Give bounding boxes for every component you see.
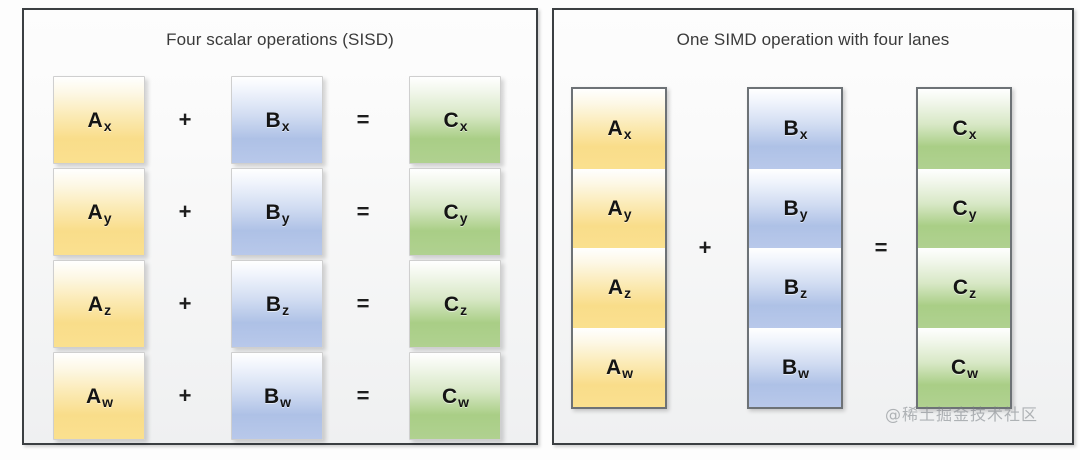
simd-lane-label: Bz xyxy=(784,277,806,298)
equals-operator: = xyxy=(343,352,383,440)
simd-lane: Ax xyxy=(573,89,665,169)
operand-a-label: Ax xyxy=(88,110,111,131)
operand-b-label: Bx xyxy=(266,110,289,131)
equals-operator: = xyxy=(343,168,383,256)
sisd-row: Ax + Bx = Cx xyxy=(24,76,536,164)
operand-a-label: Aw xyxy=(86,386,112,407)
result-c-label: Cz xyxy=(444,294,466,315)
watermark: @稀土掘金技术社区 xyxy=(885,401,1038,425)
simd-vector-b-column: Bx By Bz Bw xyxy=(747,87,843,409)
simd-lane-label: Ay xyxy=(608,198,631,219)
operand-a-box: Aw xyxy=(53,352,145,440)
operand-b-label: Bw xyxy=(264,386,290,407)
simd-lane: Bw xyxy=(749,328,841,408)
simd-lane: Bz xyxy=(749,248,841,328)
simd-lane-label: By xyxy=(784,198,807,219)
simd-lane-label: Aw xyxy=(606,357,632,378)
simd-lane: Cy xyxy=(918,169,1010,249)
simd-lane-label: Az xyxy=(608,277,630,298)
operand-a-label: Ay xyxy=(88,202,111,223)
result-c-box: Cw xyxy=(409,352,501,440)
simd-lane: By xyxy=(749,169,841,249)
plus-operator: + xyxy=(165,168,205,256)
operand-a-box: Ay xyxy=(53,168,145,256)
simd-vector-c-column: Cx Cy Cz Cw xyxy=(916,87,1012,409)
operand-b-box: Bz xyxy=(231,260,323,348)
equals-operator: = xyxy=(861,87,901,409)
simd-lane-label: Cw xyxy=(951,357,977,378)
result-c-box: Cy xyxy=(409,168,501,256)
diagram-canvas: Four scalar operations (SISD) Ax + Bx = … xyxy=(0,0,1080,460)
plus-operator: + xyxy=(165,260,205,348)
plus-operator: + xyxy=(165,76,205,164)
simd-vector-a-column: Ax Ay Az Aw xyxy=(571,87,667,409)
simd-lane-label: Ax xyxy=(608,118,631,139)
panel-sisd: Four scalar operations (SISD) Ax + Bx = … xyxy=(22,8,538,445)
simd-lane: Bx xyxy=(749,89,841,169)
simd-lane: Aw xyxy=(573,328,665,408)
operand-a-box: Ax xyxy=(53,76,145,164)
result-c-label: Cx xyxy=(444,110,467,131)
result-c-box: Cz xyxy=(409,260,501,348)
result-c-label: Cy xyxy=(444,202,467,223)
equals-operator: = xyxy=(343,260,383,348)
simd-lane: Cz xyxy=(918,248,1010,328)
simd-lane: Az xyxy=(573,248,665,328)
equals-operator: = xyxy=(343,76,383,164)
sisd-row: Aw + Bw = Cw xyxy=(24,352,536,440)
operand-a-box: Az xyxy=(53,260,145,348)
simd-lane: Ay xyxy=(573,169,665,249)
simd-lane-label: Bx xyxy=(784,118,807,139)
result-c-label: Cw xyxy=(442,386,468,407)
simd-lane-label: Cx xyxy=(953,118,976,139)
sisd-row: Ay + By = Cy xyxy=(24,168,536,256)
operand-b-box: Bw xyxy=(231,352,323,440)
simd-lane-label: Cz xyxy=(953,277,975,298)
simd-lane: Cw xyxy=(918,328,1010,408)
operand-b-label: Bz xyxy=(266,294,288,315)
operand-b-label: By xyxy=(266,202,289,223)
panel-sisd-title: Four scalar operations (SISD) xyxy=(24,30,536,50)
operand-a-label: Az xyxy=(88,294,110,315)
operand-b-box: Bx xyxy=(231,76,323,164)
plus-operator: + xyxy=(165,352,205,440)
simd-lane-label: Cy xyxy=(953,198,976,219)
operand-b-box: By xyxy=(231,168,323,256)
panel-simd: One SIMD operation with four lanes Ax Ay… xyxy=(552,8,1074,445)
simd-lane: Cx xyxy=(918,89,1010,169)
sisd-row: Az + Bz = Cz xyxy=(24,260,536,348)
panel-simd-title: One SIMD operation with four lanes xyxy=(554,30,1072,50)
plus-operator: + xyxy=(685,87,725,409)
simd-lane-label: Bw xyxy=(782,357,808,378)
result-c-box: Cx xyxy=(409,76,501,164)
